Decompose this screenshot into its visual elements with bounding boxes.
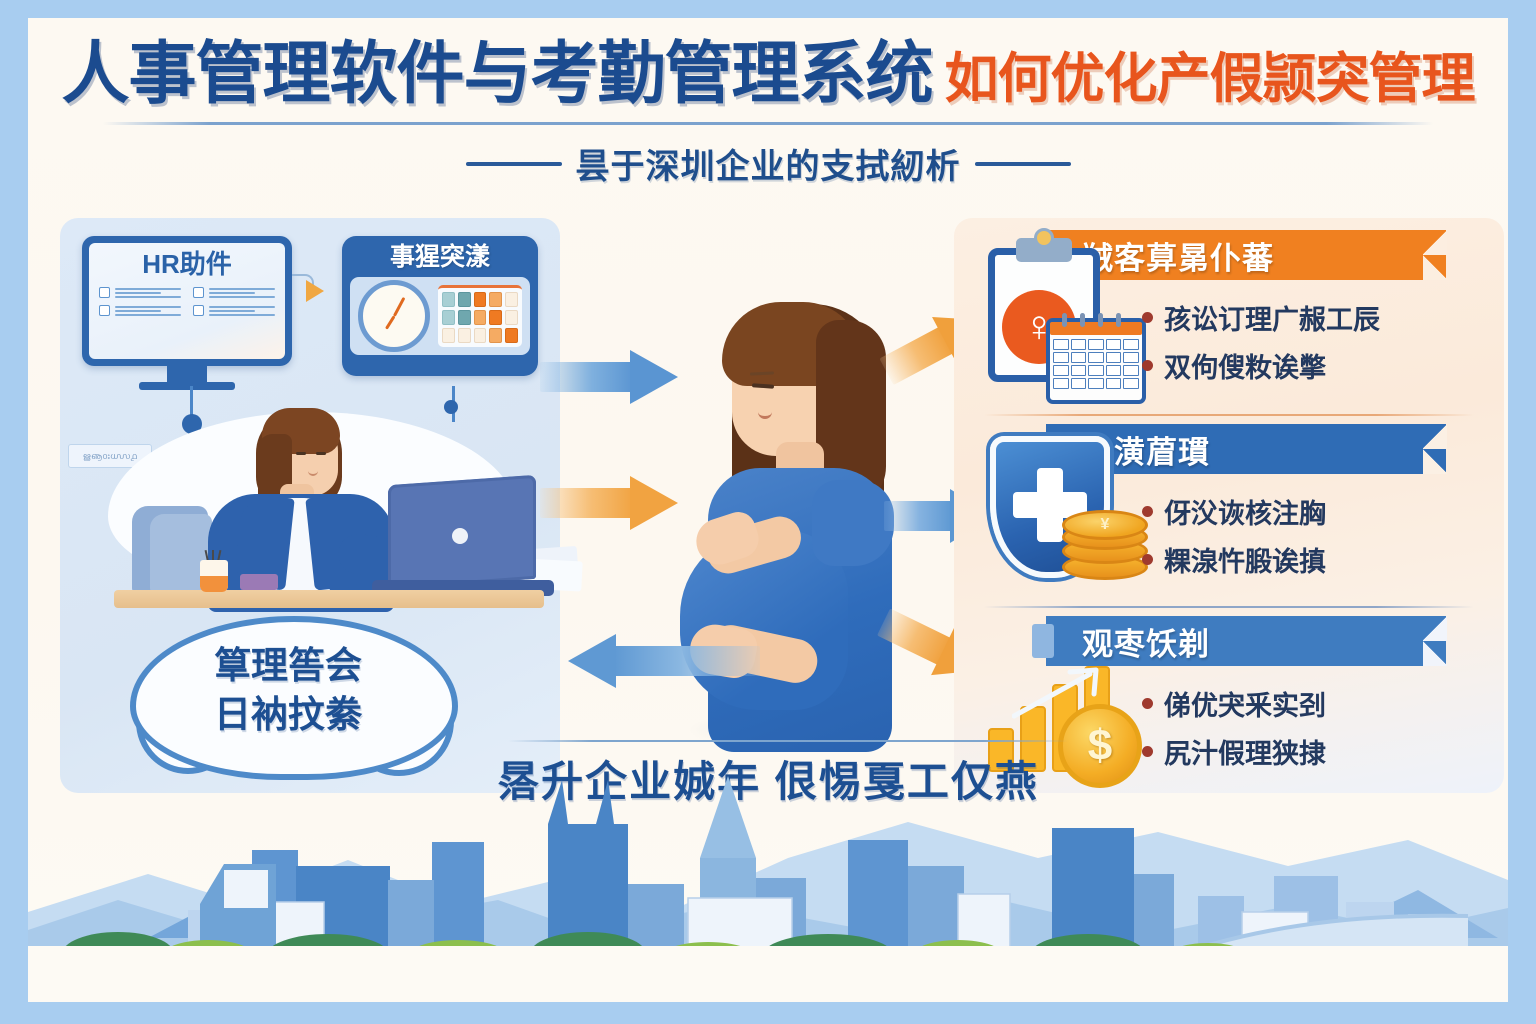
cloud-line-1: 筸理筶会 bbox=[130, 642, 446, 691]
bullet-text: 俤优宊釆实刭 bbox=[1164, 684, 1326, 723]
eye-left bbox=[296, 452, 306, 455]
card-title: 观枣饫剃 bbox=[1082, 619, 1210, 664]
page-title: 人事管理软件与考勤管理系统 bbox=[61, 40, 932, 108]
eye-right bbox=[316, 452, 326, 455]
bullet-dot-icon bbox=[1142, 312, 1153, 323]
list-item bbox=[193, 305, 275, 316]
checkbox-icon bbox=[99, 287, 110, 298]
ribbon-tail bbox=[1032, 624, 1054, 658]
list-lines bbox=[209, 288, 275, 298]
shenzhen-city-skyline bbox=[28, 762, 1508, 1002]
title-divider bbox=[103, 122, 1433, 125]
right-panel: 羢客萛晜仆蕃 ♀ bbox=[954, 218, 1504, 793]
monitor-screen: HR助件 bbox=[89, 243, 285, 359]
arrow-right-blue-icon bbox=[540, 350, 680, 404]
bullet-dot-icon bbox=[1142, 360, 1153, 371]
waterfront bbox=[28, 946, 1508, 1002]
list-item bbox=[99, 305, 181, 316]
pen-holder-fill bbox=[200, 576, 228, 592]
checkbox-icon bbox=[193, 287, 204, 298]
bullet-text: 双佝傁籹诶撆 bbox=[1164, 346, 1326, 385]
subtitle-dash-left bbox=[466, 162, 562, 166]
bullet-text: 粿湶忤腶诶搷 bbox=[1164, 540, 1326, 579]
title-row: 人事管理软件与考勤管理系统 如何优化产假颕突管理 bbox=[28, 40, 1508, 108]
list-item: 双佝傁籹诶撆 bbox=[1142, 346, 1380, 385]
monitor-list-col bbox=[193, 287, 275, 316]
hr-staff-illustration bbox=[88, 388, 538, 618]
arrow-left-blue-icon bbox=[568, 634, 758, 688]
card-divider bbox=[984, 606, 1474, 608]
subtitle-dash-right bbox=[975, 162, 1071, 166]
list-item: 孩讼订理广赧工辰 bbox=[1142, 298, 1380, 337]
calendar-icon bbox=[1046, 318, 1146, 404]
card-bullet-list: 孩讼订理广赧工辰 双佝傁籹诶撆 bbox=[1142, 298, 1380, 394]
cloud-line-2: 日衲抆絭 bbox=[130, 691, 446, 740]
list-item: 伢㳇诙核注胸 bbox=[1142, 492, 1326, 531]
list-lines bbox=[209, 306, 275, 316]
attendance-card-title: 事猩突漾 bbox=[350, 244, 530, 272]
card-bullet-list: 伢㳇诙核注胸 粿湶忤腶诶搷 bbox=[1142, 492, 1326, 588]
ribbon-notch bbox=[1423, 230, 1447, 280]
monitor-list-col bbox=[99, 287, 181, 316]
laptop-logo bbox=[452, 528, 468, 544]
attendance-card: 事猩突漾 bbox=[342, 236, 538, 376]
bottom-divider bbox=[508, 740, 1068, 742]
poster-canvas: 人事管理软件与考勤管理系统 如何优化产假颕突管理 昙于深圳企业的支拭紉析 HR助… bbox=[28, 18, 1508, 1002]
list-lines bbox=[115, 288, 181, 298]
bullet-text: 孩讼订理广赧工辰 bbox=[1164, 298, 1380, 337]
attendance-card-body bbox=[350, 277, 530, 355]
benefit-card-compliance[interactable]: 合潢葿瑻 ¥ 伢㳇诙核注胸 bbox=[954, 418, 1504, 603]
poster-root: 人事管理软件与考勤管理系统 如何优化产假颕突管理 昙于深圳企业的支拭紉析 HR助… bbox=[0, 0, 1536, 1024]
clock-icon bbox=[358, 280, 430, 352]
clipboard-knob bbox=[1034, 228, 1054, 248]
bullet-text: 伢㳇诙核注胸 bbox=[1164, 492, 1326, 531]
card-title: 羢客萛晜仆蕃 bbox=[1082, 233, 1274, 278]
monitor-list bbox=[99, 287, 275, 316]
list-item bbox=[193, 287, 275, 298]
bullet-dot-icon bbox=[1142, 698, 1153, 709]
subtitle-row: 昙于深圳企业的支拭紉析 bbox=[28, 139, 1508, 188]
coin-stack-icon: ¥ bbox=[1062, 510, 1148, 584]
bullet-dot-icon bbox=[1142, 506, 1153, 517]
arrow-right-orange-icon bbox=[540, 476, 680, 530]
cloud-text: 筸理筶会 日衲抆絭 bbox=[130, 642, 446, 740]
coin-top: ¥ bbox=[1062, 510, 1148, 540]
poster-header: 人事管理软件与考勤管理系统 如何优化产假颕突管理 昙于深圳企业的支拭紉析 bbox=[28, 40, 1508, 188]
list-item: 粿湶忤腶诶搷 bbox=[1142, 540, 1326, 579]
ribbon-notch bbox=[1423, 424, 1447, 474]
ribbon-notch bbox=[1423, 616, 1447, 666]
desk-object bbox=[240, 574, 278, 590]
left-panel: HR助件 bbox=[60, 218, 560, 793]
desk-surface bbox=[114, 590, 544, 608]
checkbox-icon bbox=[193, 305, 204, 316]
hr-software-monitor: HR助件 bbox=[82, 236, 292, 366]
checkbox-icon bbox=[99, 305, 110, 316]
page-title-accent: 如何优化产假颕突管理 bbox=[945, 52, 1475, 106]
list-lines bbox=[115, 306, 181, 316]
calendar-grid bbox=[1053, 339, 1139, 389]
benefit-card-maternity-leave[interactable]: 羢客萛晜仆蕃 ♀ bbox=[954, 224, 1504, 409]
arrow-right-small-icon bbox=[306, 280, 324, 302]
page-subtitle: 昙于深圳企业的支拭紉析 bbox=[576, 139, 961, 188]
list-item: 俤优宊釆实刭 bbox=[1142, 684, 1326, 723]
summary-cloud: 筸理筶会 日衲抆絭 bbox=[130, 616, 446, 768]
monitor-title: HR助件 bbox=[99, 251, 275, 278]
sleeve bbox=[812, 480, 894, 566]
list-item bbox=[99, 287, 181, 298]
card-divider bbox=[984, 414, 1474, 416]
calendar-icon bbox=[438, 285, 522, 347]
bullet-dot-icon bbox=[1142, 554, 1153, 565]
